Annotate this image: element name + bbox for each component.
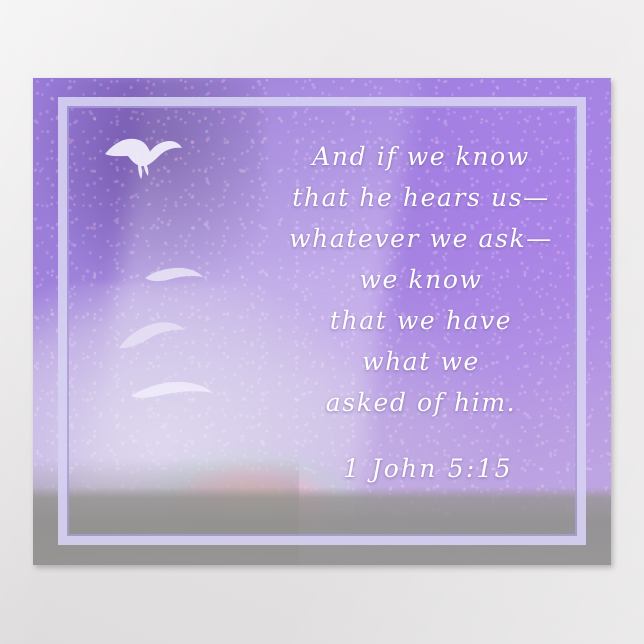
verse-line: And if we know [271, 136, 571, 177]
verse-line: that he hears us— [271, 177, 571, 218]
verse-line: we know [271, 259, 571, 300]
verse-line: asked of him. [271, 382, 571, 423]
poster-artwork: And if we know that he hears us— whateve… [33, 78, 611, 565]
scripture-citation: 1 John 5:15 [293, 454, 563, 483]
verse-text: And if we know that he hears us— whateve… [271, 136, 571, 423]
verse-line: what we [271, 341, 571, 382]
page-canvas: And if we know that he hears us— whateve… [0, 0, 644, 644]
verse-line: whatever we ask— [271, 218, 571, 259]
artwork-ground-band [33, 487, 611, 565]
verse-line: that we have [271, 300, 571, 341]
